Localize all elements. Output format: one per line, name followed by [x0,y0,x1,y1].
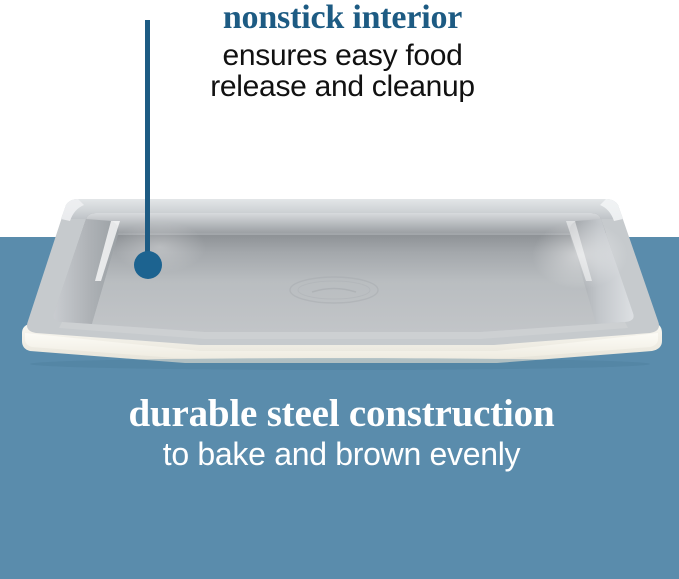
pan-cast-shadow [30,358,650,370]
top-subtext-line-1: ensures easy food [6,40,679,71]
bottom-headline: durable steel construction [4,393,679,435]
baking-sheet-pan-image [0,155,679,385]
top-subtext: ensures easy food release and cleanup [6,40,679,102]
bottom-subtext: to bake and brown evenly [4,437,679,471]
product-infographic-image: nonstick interior ensures easy food rele… [0,0,679,579]
top-subtext-line-2: release and cleanup [6,71,679,102]
top-headline: nonstick interior [6,0,679,36]
pan-highlight-glow-right [532,221,628,289]
top-text-block: nonstick interior ensures easy food rele… [0,0,679,102]
bottom-text-block: durable steel construction to bake and b… [0,393,679,471]
callout-dot-marker [134,251,162,279]
